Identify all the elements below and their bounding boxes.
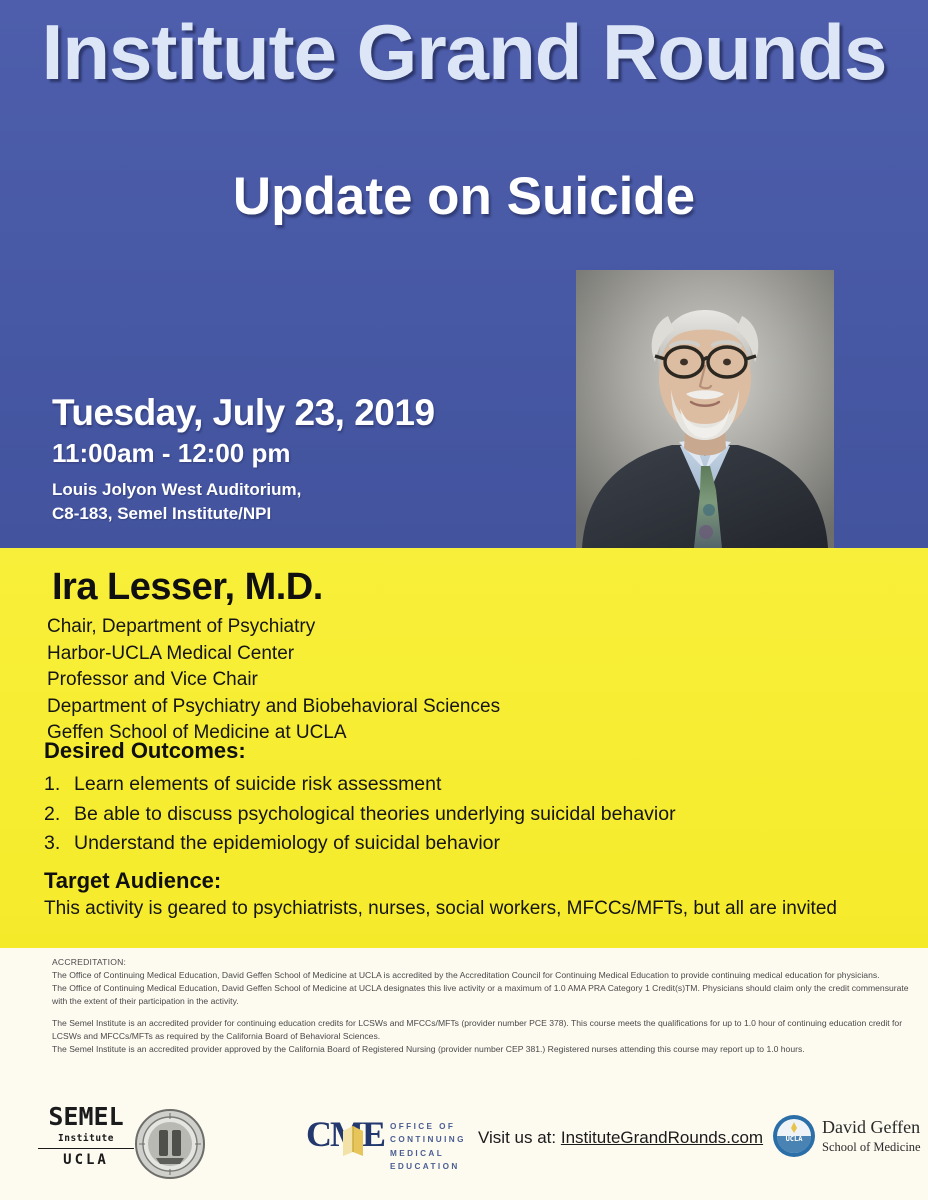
cme-word-line: MEDICAL [390, 1147, 466, 1160]
affiliation-line: Chair, Department of Psychiatry [47, 614, 500, 641]
event-date: Tuesday, July 23, 2019 [52, 392, 522, 433]
accreditation-paragraph: The Office of Continuing Medical Educati… [52, 969, 914, 982]
geffen-school-logo: UCLA David Geffen School of Medicine [772, 1108, 922, 1170]
speaker-affiliation: Chair, Department of Psychiatry Harbor-U… [47, 614, 500, 747]
visit-label: Visit us at: [478, 1128, 556, 1147]
list-item-text: Learn elements of suicide risk assessmen… [74, 770, 441, 800]
target-audience-text: This activity is geared to psychiatrists… [44, 898, 837, 920]
semel-logo-institute: Institute [34, 1133, 138, 1144]
event-location-line1: Louis Jolyon West Auditorium, [52, 478, 522, 501]
list-item-text: Be able to discuss psychological theorie… [74, 800, 676, 830]
list-item-text: Understand the epidemiology of suicidal … [74, 829, 500, 859]
logo-row: SEMEL Institute UCLA [0, 1098, 928, 1198]
open-book-icon [341, 1122, 365, 1167]
list-item-number: 3. [44, 829, 74, 859]
ucla-medicine-seal-icon: UCLA [772, 1114, 816, 1163]
affiliation-line: Department of Psychiatry and Biobehavior… [47, 694, 500, 721]
semel-logo-word: SEMEL [34, 1104, 138, 1129]
accreditation-paragraph: The Office of Continuing Medical Educati… [52, 982, 914, 1008]
target-audience-heading: Target Audience: [44, 868, 221, 894]
speaker-name: Ira Lesser, M.D. [52, 566, 323, 609]
website-link[interactable]: InstituteGrandRounds.com [561, 1128, 763, 1147]
accreditation-block: ACCREDITATION: The Office of Continuing … [52, 956, 914, 1056]
list-item-number: 2. [44, 800, 74, 830]
portrait-image [576, 270, 834, 548]
accreditation-paragraph: The Semel Institute is an accredited pro… [52, 1017, 914, 1043]
desired-outcomes-list: 1. Learn elements of suicide risk assess… [44, 770, 676, 859]
geffen-line2: School of Medicine [822, 1140, 921, 1155]
cme-word-line: OFFICE OF [390, 1120, 466, 1133]
semel-divider [38, 1148, 134, 1149]
list-item: 3. Understand the epidemiology of suicid… [44, 829, 676, 859]
cme-word-line: EDUCATION [390, 1160, 466, 1173]
ucla-seal-icon [134, 1108, 206, 1185]
list-item-number: 1. [44, 770, 74, 800]
accreditation-heading: ACCREDITATION: [52, 956, 914, 969]
visit-us-text: Visit us at: InstituteGrandRounds.com [478, 1128, 763, 1148]
semel-wordmark: SEMEL Institute UCLA [34, 1104, 138, 1168]
hero-banner: Institute Grand Rounds Update on Suicide… [0, 0, 928, 548]
event-location: Louis Jolyon West Auditorium, C8-183, Se… [52, 478, 522, 525]
speaker-portrait [576, 270, 834, 548]
geffen-wordmark: David Geffen School of Medicine [822, 1118, 921, 1155]
event-location-line2: C8-183, Semel Institute/NPI [52, 502, 522, 525]
semel-institute-logo: SEMEL Institute UCLA [34, 1102, 214, 1188]
flyer-poster: Institute Grand Rounds Update on Suicide… [0, 0, 928, 1200]
cme-logo: CME OFFICE OF CONTINUING MEDICAL EDUCATI… [306, 1114, 496, 1174]
list-item: 1. Learn elements of suicide risk assess… [44, 770, 676, 800]
semel-logo-ucla: UCLA [34, 1152, 138, 1168]
cme-wordmark: OFFICE OF CONTINUING MEDICAL EDUCATION [390, 1120, 466, 1173]
affiliation-line: Professor and Vice Chair [47, 667, 500, 694]
speaker-section: Ira Lesser, M.D. Chair, Department of Ps… [0, 548, 928, 948]
svg-text:UCLA: UCLA [786, 1135, 804, 1143]
accreditation-paragraph: The Semel Institute is an accredited pro… [52, 1043, 914, 1056]
list-item: 2. Be able to discuss psychological theo… [44, 800, 676, 830]
cme-word-line: CONTINUING [390, 1133, 466, 1146]
footer-section: ACCREDITATION: The Office of Continuing … [0, 948, 928, 1200]
page-subtitle: Update on Suicide [0, 168, 928, 226]
desired-outcomes-heading: Desired Outcomes: [44, 738, 246, 764]
event-time: 11:00am - 12:00 pm [52, 437, 522, 471]
event-details: Tuesday, July 23, 2019 11:00am - 12:00 p… [52, 392, 522, 525]
affiliation-line: Harbor-UCLA Medical Center [47, 641, 500, 668]
page-title: Institute Grand Rounds [0, 12, 928, 94]
geffen-line1: David Geffen [822, 1118, 921, 1138]
